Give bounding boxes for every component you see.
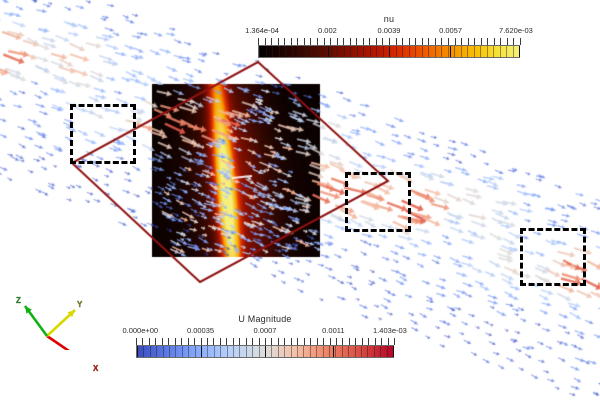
legend-labels-nu: 1.364e-040.0020.00390.00577.620e-03 (258, 26, 520, 37)
legend-ticks-nu (258, 38, 520, 45)
legend-tick-label: 1.364e-04 (245, 26, 279, 35)
annotation-box-region-3 (520, 228, 586, 286)
legend-tick-label: 1.403e-03 (373, 326, 407, 335)
legend-tick-label: 0.000e+00 (122, 326, 158, 335)
legend-tick-label: 0.002 (318, 26, 337, 35)
axis-label-y: Y (77, 300, 82, 309)
legend-title-u-magnitude: U Magnitude (136, 314, 394, 324)
legend-tick-label: 0.00035 (187, 326, 214, 335)
color-legend-nu[interactable]: nu 1.364e-040.0020.00390.00577.620e-03 (258, 14, 520, 58)
legend-ticks-u-magnitude (136, 338, 394, 345)
legend-title-nu: nu (258, 14, 520, 24)
legend-labels-u-magnitude: 0.000e+000.000350.00070.00111.403e-03 (136, 326, 394, 337)
annotation-box-region-2 (345, 172, 411, 232)
axis-label-x: X (93, 364, 98, 373)
axis-label-z: Z (16, 296, 21, 305)
legend-colorbar-nu[interactable] (258, 45, 520, 58)
legend-tick-label: 0.0057 (439, 26, 462, 35)
legend-tick-label: 0.0011 (322, 326, 344, 335)
legend-tick-label: 0.0039 (378, 26, 401, 35)
visualization-window: nu 1.364e-040.0020.00390.00577.620e-03 U… (0, 0, 600, 400)
legend-tick-label: 7.620e-03 (499, 26, 533, 35)
orientation-axes-widget[interactable]: X Y Z (22, 292, 92, 350)
legend-colorbar-u-magnitude[interactable] (136, 345, 394, 358)
annotation-box-region-1 (70, 104, 136, 164)
legend-tick-label: 0.0007 (254, 326, 277, 335)
color-legend-u-magnitude[interactable]: U Magnitude 0.000e+000.000350.00070.0011… (136, 314, 394, 358)
